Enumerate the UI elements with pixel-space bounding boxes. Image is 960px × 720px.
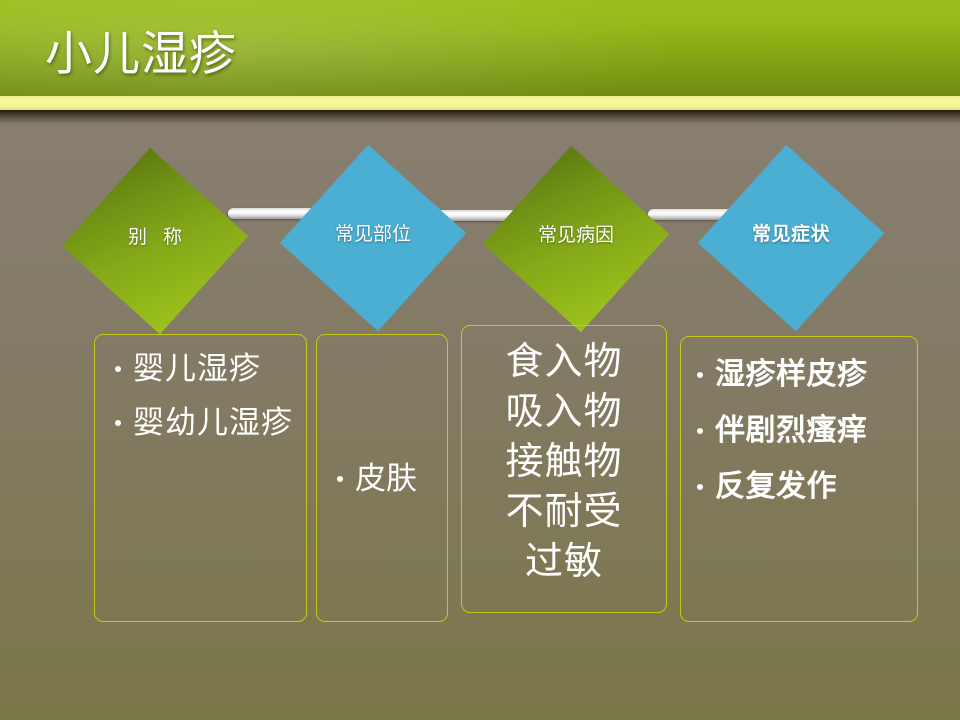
text-line: 不耐受 [470,486,658,536]
content-box-body: 皮肤 [317,335,447,621]
content-box-body: 湿疹样皮疹 伴剧烈瘙痒 反复发作 [681,337,917,621]
content-box-alias[interactable]: 婴儿湿疹 婴幼儿湿疹 [94,334,307,622]
header-shadow [0,110,960,126]
diagram-node-label: 常见症状 [725,222,857,246]
diagram-node-symptoms[interactable]: 常见症状 [725,172,857,304]
list-item: 湿疹样皮疹 [689,347,909,403]
list-item: 婴幼儿湿疹 [103,399,298,447]
list-item: 皮肤 [325,457,439,501]
content-box-causes[interactable]: 食入物 吸入物 接触物 不耐受 过敏 [461,325,667,613]
slide-title: 小儿湿疹 [45,26,237,84]
content-box-body: 食入物 吸入物 接触物 不耐受 过敏 [462,326,666,612]
text-line: 接触物 [470,436,658,486]
diagram-node-location[interactable]: 常见部位 [307,172,439,304]
slide-canvas: 小儿湿疹 别 称 常见部位 常见病因 常见症状 婴儿湿疹 婴幼儿湿疹 [0,0,960,720]
list-item: 伴剧烈瘙痒 [689,403,909,459]
text-line: 吸入物 [470,386,658,436]
text-line: 食入物 [470,336,658,386]
list-item: 婴儿湿疹 [103,345,298,393]
content-box-symptoms[interactable]: 湿疹样皮疹 伴剧烈瘙痒 反复发作 [680,336,918,622]
diagram-node-causes[interactable]: 常见病因 [510,173,642,305]
bullet-list: 湿疹样皮疹 伴剧烈瘙痒 反复发作 [689,347,909,515]
bullet-list: 婴儿湿疹 婴幼儿湿疹 [103,345,298,453]
list-item: 反复发作 [689,459,909,515]
diagram-node-alias[interactable]: 别 称 [89,175,221,307]
diagram-node-label: 常见部位 [307,222,439,246]
content-box-location[interactable]: 皮肤 [316,334,448,622]
content-box-body: 婴儿湿疹 婴幼儿湿疹 [95,335,306,621]
bullet-list: 皮肤 [325,457,439,501]
header-accent-stripe [0,96,960,110]
diagram-node-label: 常见病因 [510,223,642,247]
diagram-node-label: 别 称 [89,225,221,249]
text-line: 过敏 [470,536,658,586]
